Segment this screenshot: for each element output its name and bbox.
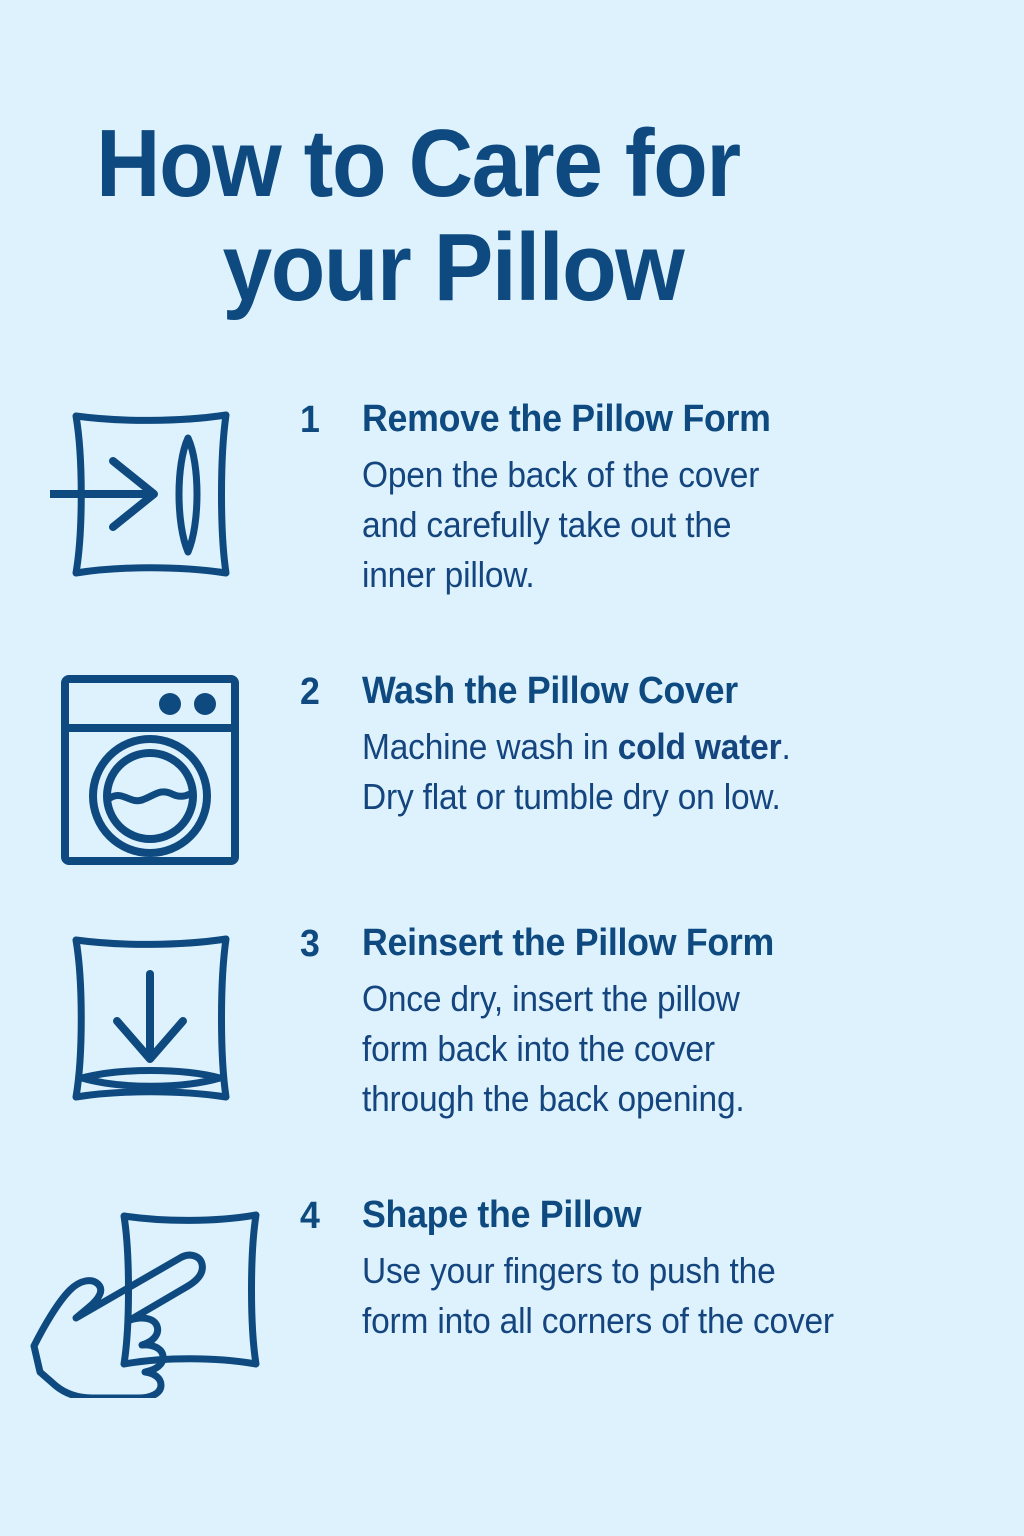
step-4-body: Use your fingers to push the form into a… xyxy=(362,1246,940,1346)
step-1-body: Open the back of the cover and carefully… xyxy=(362,450,940,600)
step-3-number: 3 xyxy=(300,920,358,966)
title-line-1: How to Care for xyxy=(96,112,877,216)
step-3-body: Once dry, insert the pillow form back in… xyxy=(362,974,940,1124)
step-1-icon-cell xyxy=(0,396,300,587)
step-3-icon-cell xyxy=(0,920,300,1111)
step-2-body-line-1-suffix: . xyxy=(781,726,790,767)
step-item-3: 3 Reinsert the Pillow Form Once dry, ins… xyxy=(0,920,1024,1124)
step-1-heading: Remove the Pillow Form xyxy=(362,396,947,442)
step-1-body-line-3: inner pillow. xyxy=(362,550,940,600)
step-1-body-line-1: Open the back of the cover xyxy=(362,450,940,500)
step-1-text: Remove the Pillow Form Open the back of … xyxy=(362,396,1024,600)
step-2-icon-cell xyxy=(0,668,300,866)
step-4-number: 4 xyxy=(300,1192,358,1238)
step-2-body-line-2: Dry flat or tumble dry on low. xyxy=(362,772,940,822)
step-3-body-line-1: Once dry, insert the pillow xyxy=(362,974,940,1024)
title-line-2: your Pillow xyxy=(96,216,877,320)
step-item-4: 4 Shape the Pillow Use your fingers to p… xyxy=(0,1192,1024,1398)
step-3-heading: Reinsert the Pillow Form xyxy=(362,920,947,966)
step-1-number: 1 xyxy=(300,396,358,442)
step-3-text: Reinsert the Pillow Form Once dry, inser… xyxy=(362,920,1024,1124)
step-4-body-line-2: form into all corners of the cover xyxy=(362,1296,940,1346)
step-item-1: 1 Remove the Pillow Form Open the back o… xyxy=(0,396,1024,600)
step-3-body-line-2: form back into the cover xyxy=(362,1024,940,1074)
step-3-body-line-3: through the back opening. xyxy=(362,1074,940,1124)
step-1-body-line-2: and carefully take out the xyxy=(362,500,940,550)
step-4-heading: Shape the Pillow xyxy=(362,1192,947,1238)
poster-title: How to Care for your Pillow xyxy=(96,112,936,320)
hand-pointing-at-pillow-icon xyxy=(26,1198,274,1398)
infographic-poster: How to Care for your Pillow 1 Remove the… xyxy=(0,0,1024,1536)
step-2-number: 2 xyxy=(300,668,358,714)
step-4-text: Shape the Pillow Use your fingers to pus… xyxy=(362,1192,1024,1346)
step-2-body: Machine wash in cold water. Dry flat or … xyxy=(362,722,940,822)
step-2-body-line-1-prefix: Machine wash in xyxy=(362,726,618,767)
step-item-2: 2 Wash the Pillow Cover Machine wash in … xyxy=(0,668,1024,866)
pillow-with-arrow-out-icon xyxy=(50,402,250,587)
step-2-heading: Wash the Pillow Cover xyxy=(362,668,947,714)
pillow-with-down-arrow-icon xyxy=(50,926,250,1111)
washing-machine-icon xyxy=(60,674,240,866)
step-4-icon-cell xyxy=(0,1192,300,1398)
step-4-body-line-1: Use your fingers to push the xyxy=(362,1246,940,1296)
step-2-body-line-1: Machine wash in cold water. xyxy=(362,722,940,772)
step-2-text: Wash the Pillow Cover Machine wash in co… xyxy=(362,668,1024,822)
step-2-body-emphasis: cold water xyxy=(618,726,782,767)
